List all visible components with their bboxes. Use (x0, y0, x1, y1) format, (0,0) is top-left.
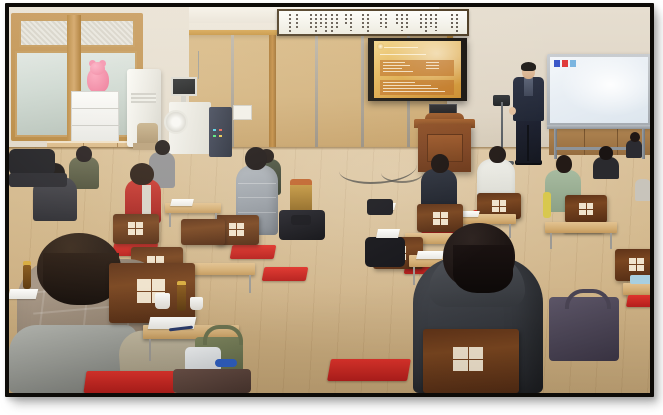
audience-head (599, 146, 613, 160)
audience-head (489, 146, 506, 163)
audience-head (155, 140, 170, 155)
thermos-lid (290, 179, 312, 185)
paper-cup (190, 297, 203, 310)
chair-pane-motif (433, 212, 448, 225)
antenna (198, 51, 199, 79)
wall-monitor (171, 77, 197, 96)
chair-pane-motif (229, 223, 244, 236)
bottle-cap (23, 261, 31, 265)
handout-paper (9, 289, 38, 299)
plastic-drawer-unit (71, 91, 119, 143)
handbag-strap (565, 289, 611, 309)
thermos (290, 183, 312, 213)
brown-bottle (177, 285, 186, 311)
handout-paper (416, 251, 444, 259)
whiteboard-leg (554, 129, 557, 159)
presenter-hair (521, 62, 536, 71)
cabinet-seam (584, 127, 585, 155)
audience-person (626, 140, 642, 158)
electric-fan (164, 110, 188, 134)
brown-bottle (23, 265, 31, 289)
chair-pane-motif (629, 258, 644, 271)
audience-person (635, 179, 650, 201)
audience-head (76, 146, 92, 162)
low-desk (623, 283, 650, 295)
desk-leg (509, 224, 511, 238)
chair-pane-motif (128, 222, 143, 235)
whiteboard-leg (642, 129, 645, 159)
black-backpack (365, 237, 405, 267)
presenter-shirt (524, 78, 533, 96)
audience-head (630, 132, 640, 142)
teddy-bear-icon (90, 62, 105, 75)
presenter-leg-gap (527, 125, 529, 161)
wooden-chair (137, 123, 158, 145)
blue-case (215, 359, 237, 367)
cabinet-seam (617, 127, 618, 155)
chair-pane-motif (579, 203, 593, 215)
black-backpack (367, 199, 393, 215)
wall-junction-box (233, 105, 252, 120)
server-tower (209, 107, 232, 157)
audience-head (556, 155, 572, 173)
projection-screen (374, 41, 461, 98)
chair-pane-motif (453, 347, 483, 371)
door-post (269, 35, 276, 147)
floor-cable (381, 163, 423, 183)
floor-cushion (262, 267, 309, 281)
audience-person (593, 157, 619, 179)
photograph (9, 7, 650, 393)
air-purifier-vent (131, 93, 156, 103)
whiteboard-tray (547, 125, 650, 129)
low-desk (187, 263, 255, 275)
bottle-cap (177, 281, 186, 285)
handout-paper (460, 211, 480, 217)
chair-pane-motif (492, 200, 506, 212)
photo-frame (5, 3, 654, 397)
tote-bag-handle (203, 325, 243, 345)
equipment-silhouette (9, 149, 55, 175)
low-chair-back (181, 219, 225, 245)
floor-cushion (626, 295, 650, 307)
slide-logo-icon (377, 43, 384, 50)
desk-leg (249, 275, 251, 293)
door-seam (361, 35, 364, 147)
wall-banner-sign (277, 9, 469, 36)
whiteboard-logo-icon (554, 60, 576, 67)
floor-cushion (83, 371, 178, 393)
drawer-seam (72, 125, 120, 126)
paper-cup (155, 293, 170, 309)
drawer-seam (72, 108, 120, 109)
presenter-hand (509, 107, 516, 115)
audience-head (245, 147, 267, 170)
notebook (170, 199, 194, 206)
floor-cushion (327, 359, 411, 381)
desk-leg (550, 233, 552, 249)
audience-hair (43, 253, 119, 305)
floor-cushion (230, 245, 277, 259)
door-seam (315, 35, 318, 147)
desk-leg (413, 267, 415, 285)
window-pane-left (15, 51, 69, 137)
audience-head (431, 154, 449, 173)
plastic-bag (630, 275, 650, 284)
audience-hair (453, 245, 513, 293)
desk-leg (149, 339, 151, 361)
desk-leg (610, 233, 612, 249)
brown-handbag (173, 369, 251, 393)
equipment-silhouette (9, 173, 67, 187)
handout-paper (376, 229, 400, 238)
audience-head (130, 163, 154, 185)
low-desk (545, 222, 617, 233)
desk-leg (169, 213, 171, 227)
audience-scarf (543, 192, 551, 218)
